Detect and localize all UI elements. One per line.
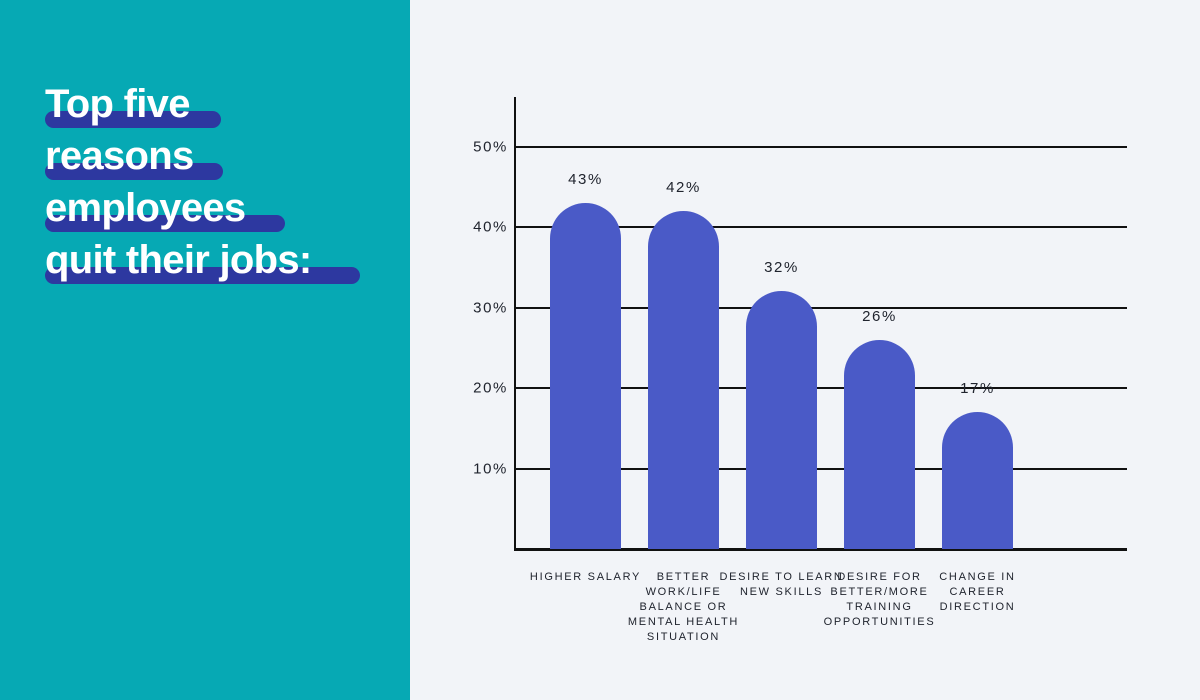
- bar-value-label: 32%: [721, 259, 842, 276]
- title-panel: Top fivereasonsemployeesquit their jobs:: [0, 0, 410, 700]
- title-line-text: employees: [45, 186, 245, 230]
- y-axis-tick-label: 40%: [456, 219, 508, 236]
- bar: [648, 211, 719, 549]
- title-line: reasons: [45, 130, 385, 182]
- title-line: quit their jobs:: [45, 234, 385, 286]
- y-axis-tick-label: 50%: [456, 138, 508, 155]
- title-line-text: Top five: [45, 82, 190, 126]
- title-line: employees: [45, 182, 385, 234]
- gridline: [515, 146, 1127, 148]
- chart-panel: 10%20%30%40%50%43%HIGHER SALARY42%BETTER…: [410, 0, 1200, 700]
- bar-chart: 10%20%30%40%50%43%HIGHER SALARY42%BETTER…: [410, 0, 1200, 700]
- bar-value-label: 26%: [819, 308, 940, 325]
- infographic-page: Top fivereasonsemployeesquit their jobs:…: [0, 0, 1200, 700]
- bar: [550, 203, 621, 549]
- y-axis-tick-label: 10%: [456, 460, 508, 477]
- y-axis-tick-label: 30%: [456, 299, 508, 316]
- y-axis-line: [514, 97, 516, 551]
- title-line: Top five: [45, 78, 385, 130]
- title-line-text: quit their jobs:: [45, 238, 312, 282]
- bar: [942, 412, 1013, 549]
- bar-value-label: 42%: [623, 179, 744, 196]
- page-title: Top fivereasonsemployeesquit their jobs:: [45, 78, 385, 286]
- bar: [844, 340, 915, 549]
- x-axis-category-label: CHANGE IN CAREER DIRECTION: [914, 570, 1041, 615]
- title-line-text: reasons: [45, 134, 194, 178]
- bar: [746, 291, 817, 549]
- y-axis-tick-label: 20%: [456, 380, 508, 397]
- bar-value-label: 17%: [917, 380, 1038, 397]
